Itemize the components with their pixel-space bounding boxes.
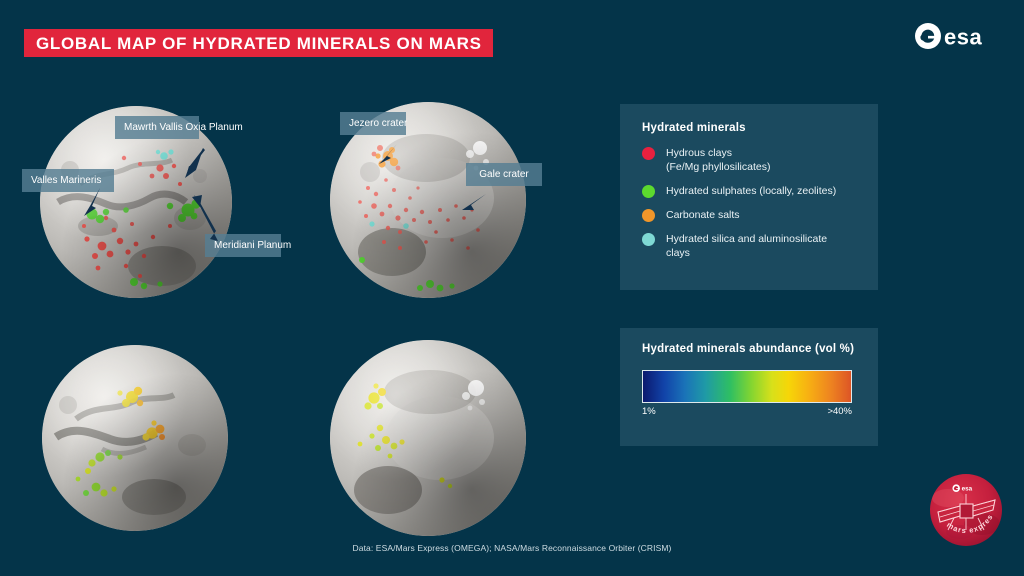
page-title: GLOBAL MAP OF HYDRATED MINERALS ON MARS [24,29,493,57]
legend-title: Hydrated minerals [642,122,746,134]
legend-item-hydrated-sulphates: Hydrated sulphates (locally, zeolites) [642,184,866,198]
callout-gale-crater: Gale crater [466,163,542,186]
arrow-mawrth-vallis [183,146,209,180]
legend-item-hydrated-silica: Hydrated silica and aluminosilicate clay… [642,232,866,260]
abundance-title: Hydrated minerals abundance (vol %) [642,343,854,355]
callout-jezero-crater: Jezero crater [340,112,406,135]
mars-globe-abundance-tharsis [42,345,228,531]
swatch-carbonate-salts [642,209,655,222]
infographic-root: GLOBAL MAP OF HYDRATED MINERALS ON MARS … [0,0,1024,576]
legend-list: Hydrous clays (Fe/Mg phyllosilicates) Hy… [642,146,866,270]
arrow-meridiani-planum [188,193,222,245]
arrow-gale-crater [460,192,488,214]
callout-label: Mawrth Vallis Oxia Planum [124,122,243,133]
page-title-text: GLOBAL MAP OF HYDRATED MINERALS ON MARS [36,35,482,52]
esa-logo: esa [914,21,1000,51]
callout-label: Gale crater [479,169,528,180]
arrow-jezero-crater [377,140,401,166]
legend-item-carbonate-salts: Carbonate salts [642,208,866,222]
colorbar-min-label: 1% [642,406,656,417]
callout-label: Jezero crater [349,118,407,129]
legend-item-label: Hydrous clays (Fe/Mg phyllosilicates) [666,146,770,174]
legend-panel: Hydrated minerals Hydrous clays (Fe/Mg p… [620,104,878,290]
swatch-hydrated-silica [642,233,655,246]
mars-globe-abundance-hellas [330,340,526,536]
callout-label: Meridiani Planum [214,240,291,251]
callout-mawrth-vallis-oxia-planum: Mawrth Vallis Oxia Planum [115,116,199,139]
abundance-panel: Hydrated minerals abundance (vol %) 1% >… [620,328,878,446]
callout-label: Valles Marineris [31,175,101,186]
colorbar-max-label: >40% [827,406,852,417]
mars-express-badge: esa mars express [924,468,1008,552]
globe-terrain-overlay [42,345,228,531]
swatch-hydrated-sulphates [642,185,655,198]
legend-item-hydrous-clays: Hydrous clays (Fe/Mg phyllosilicates) [642,146,866,174]
swatch-hydrous-clays [642,147,655,160]
data-credit: Data: ESA/Mars Express (OMEGA); NASA/Mar… [0,543,1024,553]
legend-item-label: Hydrated sulphates (locally, zeolites) [666,184,836,198]
abundance-colorbar [642,370,852,403]
legend-item-label: Carbonate salts [666,208,740,222]
legend-item-label: Hydrated silica and aluminosilicate clay… [666,232,827,260]
svg-text:esa: esa [944,25,982,50]
globe-terrain-overlay [330,340,526,536]
arrow-valles-marineris [80,186,106,218]
svg-text:esa: esa [962,486,973,493]
